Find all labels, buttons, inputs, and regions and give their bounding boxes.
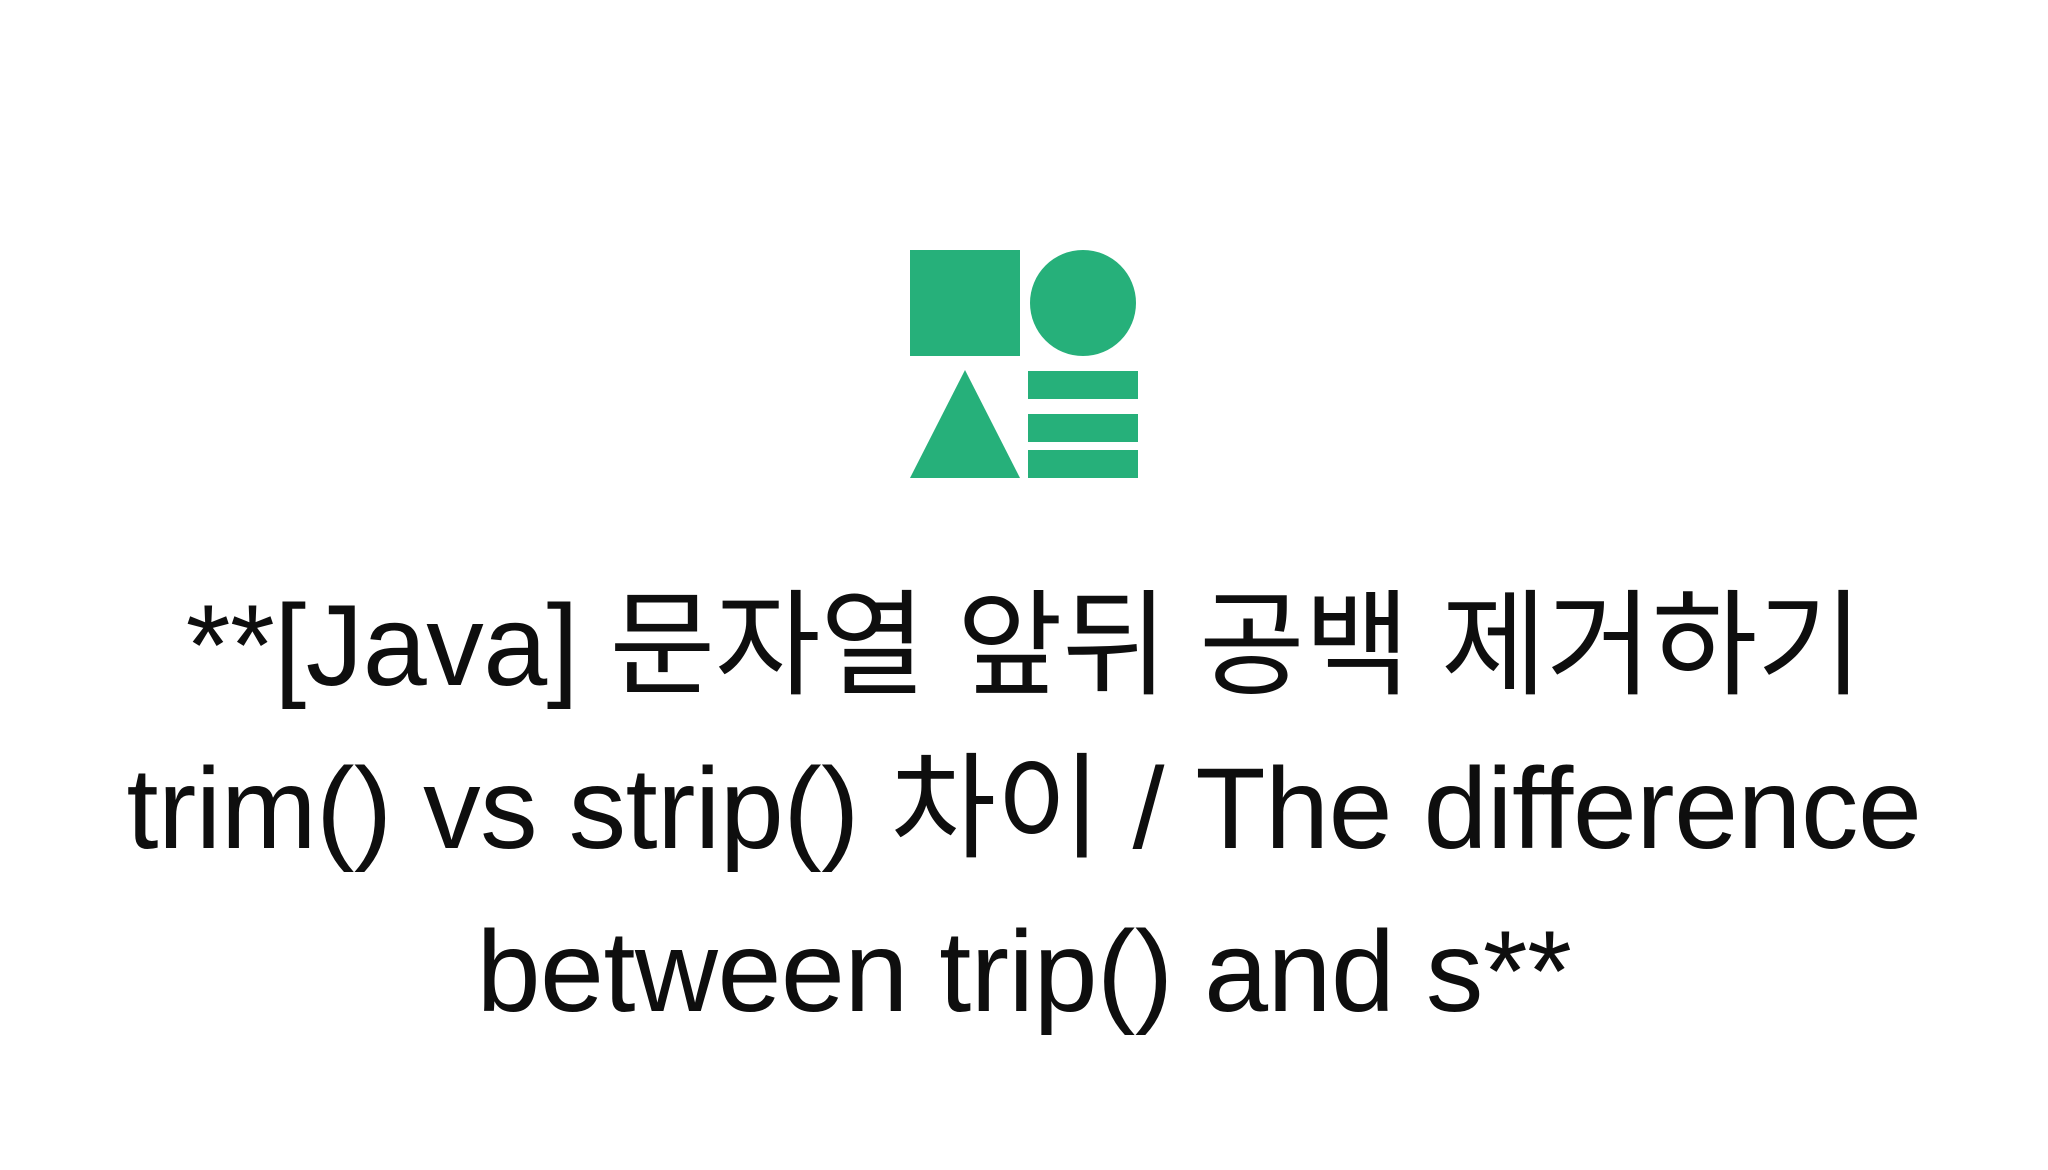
article-title-block: **[Java] 문자열 앞뒤 공백 제거하기 trim() vs strip(…: [0, 565, 2048, 1054]
square-icon: [910, 250, 1020, 356]
article-preview-card: **[Java] 문자열 앞뒤 공백 제거하기 trim() vs strip(…: [0, 0, 2048, 1170]
shapes-logo: [910, 250, 1138, 478]
triangle-icon: [910, 370, 1020, 478]
bar-icon: [1028, 414, 1138, 442]
circle-icon: [1030, 250, 1136, 356]
bar-icon: [1028, 371, 1138, 399]
bar-icon: [1028, 450, 1138, 478]
page-title: **[Java] 문자열 앞뒤 공백 제거하기 trim() vs strip(…: [110, 565, 1938, 1054]
